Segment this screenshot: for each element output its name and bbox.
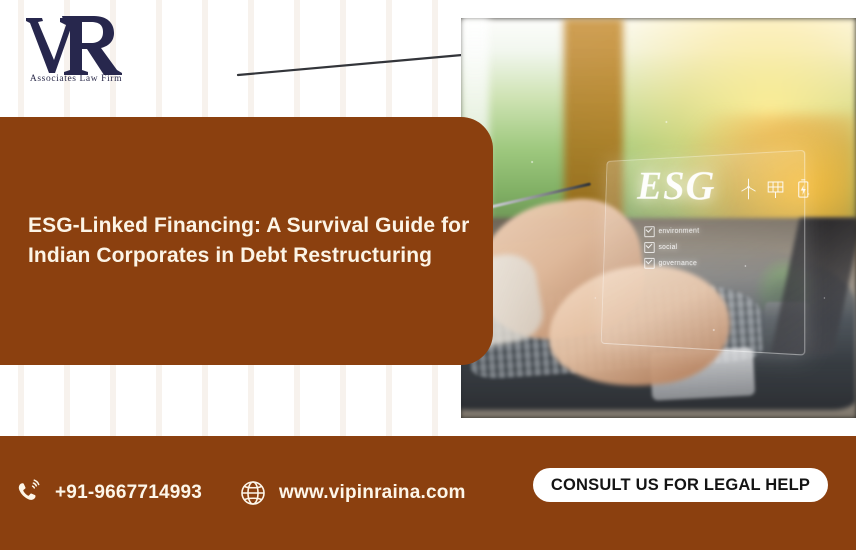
wind-turbine-icon bbox=[739, 178, 757, 200]
globe-icon bbox=[238, 478, 268, 508]
brand-tagline: Associates Law Firm bbox=[20, 74, 132, 84]
solar-panel-icon bbox=[766, 178, 785, 200]
consult-cta-button[interactable]: CONSULT US FOR LEGAL HELP bbox=[533, 468, 828, 502]
checklist-item: governance bbox=[644, 258, 699, 269]
checkbox-checked-icon bbox=[644, 258, 654, 269]
checklist-item: environment bbox=[644, 226, 699, 238]
checkbox-checked-icon bbox=[644, 242, 654, 253]
photo-hologram-icon-row bbox=[739, 178, 812, 200]
contact-website[interactable]: www.vipinraina.com bbox=[238, 478, 466, 508]
promo-banner: Associates Law Firm ESG bbox=[0, 0, 856, 550]
battery-icon bbox=[793, 178, 812, 200]
contact-phone[interactable]: +91-9667714993 bbox=[14, 478, 202, 508]
photo-esg-checklist: environment social governance bbox=[644, 226, 699, 275]
checklist-item: social bbox=[644, 242, 699, 253]
headline-panel: ESG-Linked Financing: A Survival Guide f… bbox=[0, 117, 493, 365]
page-title: ESG-Linked Financing: A Survival Guide f… bbox=[28, 117, 480, 365]
phone-ringing-icon bbox=[14, 478, 44, 508]
website-url: www.vipinraina.com bbox=[279, 482, 466, 504]
checkbox-checked-icon bbox=[644, 226, 654, 237]
checklist-label: governance bbox=[658, 260, 697, 267]
checklist-label: social bbox=[658, 244, 677, 251]
brand-logo[interactable]: Associates Law Firm bbox=[18, 12, 134, 94]
phone-number: +91-9667714993 bbox=[55, 482, 202, 504]
checklist-label: environment bbox=[658, 228, 699, 235]
photo-esg-label: ESG bbox=[637, 161, 715, 209]
vr-monogram-icon bbox=[18, 12, 134, 76]
decorative-diagonal-line bbox=[236, 48, 464, 82]
hero-photo: ESG environment social governance bbox=[461, 18, 856, 418]
